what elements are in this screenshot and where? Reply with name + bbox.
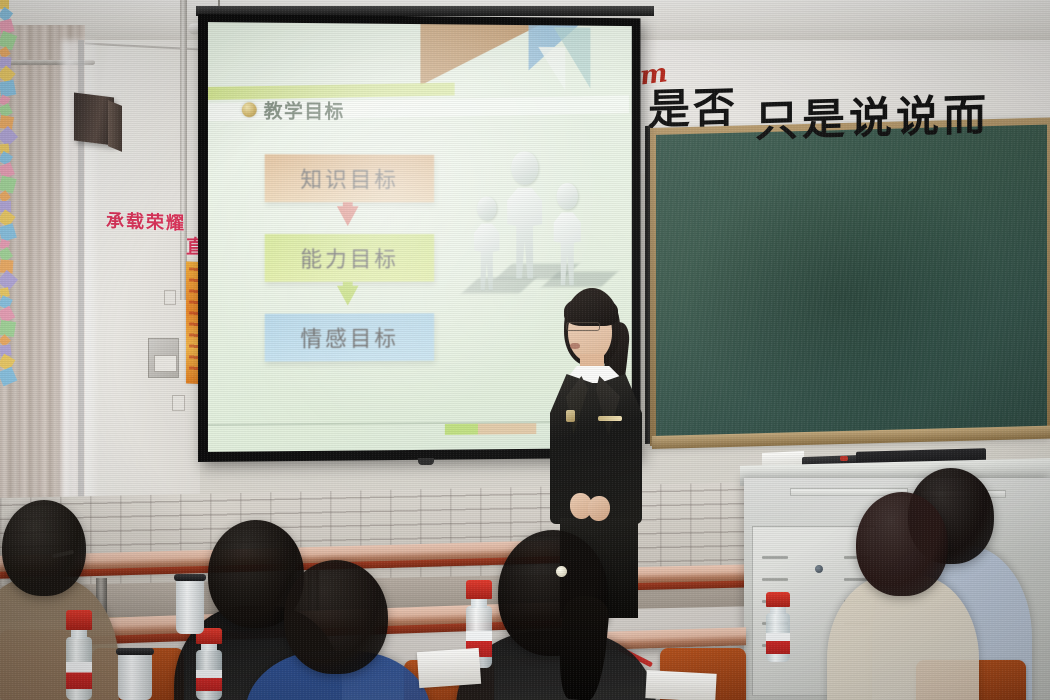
wall-switch-panel[interactable] bbox=[148, 338, 179, 378]
slide-people-graphic bbox=[472, 133, 598, 311]
bottle-label bbox=[196, 670, 222, 692]
audience-head bbox=[856, 492, 948, 596]
audience-person-right-1 bbox=[848, 492, 1000, 700]
screen-pull-hook[interactable] bbox=[418, 458, 434, 465]
paper-cup-left bbox=[118, 652, 152, 700]
classroom-photo: 承载荣耀 直 m 是否 只是说说而 教学目标 知识目标 bbox=[0, 0, 1050, 700]
presenter-pin bbox=[566, 410, 575, 422]
cup-lid bbox=[174, 574, 206, 581]
arrow-down-icon-2 bbox=[337, 286, 359, 306]
calligraphy-line-1: 是否 bbox=[648, 74, 738, 138]
water-bottle-right bbox=[766, 592, 790, 662]
objective-box-ability: 能力目标 bbox=[265, 234, 434, 282]
gold-circle-bullet-icon bbox=[242, 102, 257, 117]
arrow-down-icon-1 bbox=[337, 206, 359, 226]
slide-footer-green bbox=[445, 424, 478, 435]
bottle-label bbox=[766, 633, 790, 654]
slide-title: 教学目标 bbox=[264, 96, 345, 123]
bottle-cap-icon bbox=[66, 610, 92, 630]
audience-head bbox=[2, 500, 86, 596]
figure-head bbox=[477, 197, 496, 221]
notebook-center bbox=[417, 648, 481, 688]
device-indicator-light bbox=[840, 456, 848, 461]
cabinet-slot bbox=[762, 578, 788, 581]
presenter-hand-right bbox=[588, 496, 610, 521]
bottle-label bbox=[66, 662, 92, 689]
bottle-cap-icon bbox=[466, 580, 492, 599]
audience-hair-clip-icon bbox=[556, 566, 567, 577]
presenter-mouth bbox=[570, 343, 580, 349]
wall-calligraphy-banner: m 是否 只是说说而 bbox=[615, 43, 1050, 135]
slide-footer-tan bbox=[478, 423, 536, 434]
cup-lid bbox=[116, 648, 154, 655]
chalkboard bbox=[650, 118, 1050, 446]
calligraphy-line-2: 只是说说而 bbox=[755, 81, 990, 150]
wall-speaker-side bbox=[108, 100, 122, 152]
presenter-badge bbox=[598, 416, 622, 421]
audience-torso bbox=[0, 577, 119, 700]
notebook-right bbox=[645, 670, 716, 700]
eyeglasses-icon bbox=[566, 322, 600, 331]
cabinet-slot bbox=[762, 556, 788, 559]
wall-switch-upper[interactable] bbox=[164, 290, 176, 305]
water-bottle-left-2 bbox=[196, 628, 222, 700]
figure-shadow bbox=[462, 277, 538, 293]
objective-box-knowledge: 知识目标 bbox=[265, 154, 434, 202]
cabinet-lock-icon[interactable] bbox=[815, 565, 823, 573]
audience-head bbox=[284, 560, 388, 674]
wall-switch-lower[interactable] bbox=[172, 395, 185, 411]
figure-head bbox=[557, 183, 578, 209]
thermos-cup bbox=[176, 578, 204, 634]
water-bottle-left bbox=[66, 610, 92, 700]
figure-head bbox=[511, 151, 538, 185]
slide-shape-white-triangle bbox=[538, 47, 565, 91]
bottle-neck bbox=[471, 598, 488, 609]
wall-slogan-primary: 承载荣耀 bbox=[106, 207, 186, 236]
bottle-cap-icon bbox=[766, 592, 790, 607]
chalkboard-surface bbox=[656, 125, 1047, 437]
objective-box-emotion: 情感目标 bbox=[265, 313, 434, 361]
slide-title-row: 教学目标 bbox=[242, 96, 345, 123]
bottle-neck bbox=[770, 606, 785, 614]
